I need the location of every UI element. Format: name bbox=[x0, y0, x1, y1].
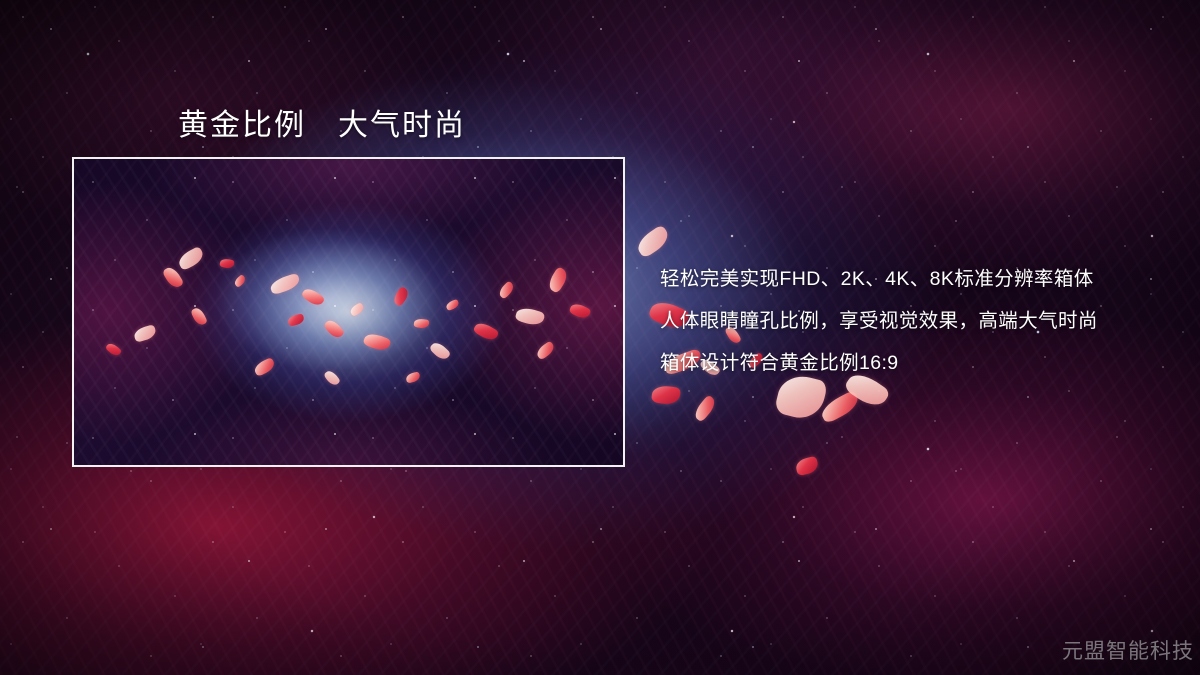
body-line-1: 轻松完美实现FHD、2K、4K、8K标准分辨率箱体 bbox=[660, 258, 1160, 300]
presentation-slide: 黄金比例 大气时尚 轻松完美实现FHD、2K、4K、8K标准分辨率箱体 人体眼睛… bbox=[0, 0, 1200, 675]
petal-shape bbox=[795, 456, 820, 476]
body-line-3: 箱体设计符合黄金比例16:9 bbox=[660, 342, 1160, 384]
petal-shape bbox=[634, 224, 673, 259]
petal-shape bbox=[818, 390, 862, 425]
petal-shape bbox=[692, 394, 719, 422]
petal-shape bbox=[651, 384, 681, 406]
slide-body-text: 轻松完美实现FHD、2K、4K、8K标准分辨率箱体 人体眼睛瞳孔比例，享受视觉效… bbox=[660, 258, 1160, 384]
framed-image-starfield bbox=[74, 159, 623, 465]
framed-image bbox=[72, 157, 625, 467]
body-line-2: 人体眼睛瞳孔比例，享受视觉效果，高端大气时尚 bbox=[660, 300, 1160, 342]
watermark-text: 元盟智能科技 bbox=[1062, 635, 1194, 665]
slide-title: 黄金比例 大气时尚 bbox=[178, 100, 466, 144]
